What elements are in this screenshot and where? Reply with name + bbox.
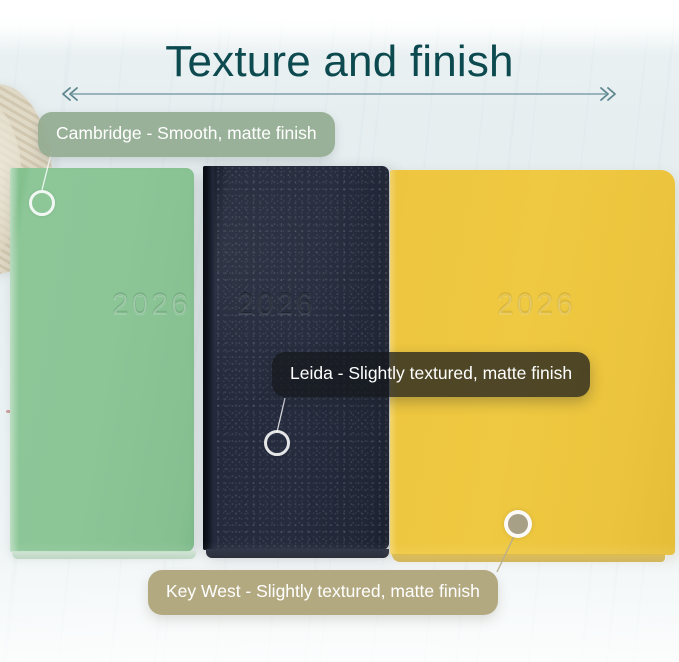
callout-text-leida: Leida - Slightly textured, matte finish xyxy=(290,365,572,383)
callout-text-keywest: Key West - Slightly textured, matte fini… xyxy=(166,583,480,601)
callout-leader-lines xyxy=(0,0,679,662)
callout-text-cambridge: Cambridge - Smooth, matte finish xyxy=(56,125,317,143)
callout-label-keywest[interactable]: Key West - Slightly textured, matte fini… xyxy=(148,570,498,615)
callout-label-leida[interactable]: Leida - Slightly textured, matte finish xyxy=(272,352,590,397)
callout-label-cambridge[interactable]: Cambridge - Smooth, matte finish xyxy=(38,112,335,157)
callout-marker-keywest[interactable] xyxy=(504,510,532,538)
callout-marker-leida[interactable] xyxy=(264,430,290,456)
product-texture-infographic: 2026 2026 2026 Texture and finish xyxy=(0,0,679,662)
callout-marker-cambridge[interactable] xyxy=(29,190,55,216)
